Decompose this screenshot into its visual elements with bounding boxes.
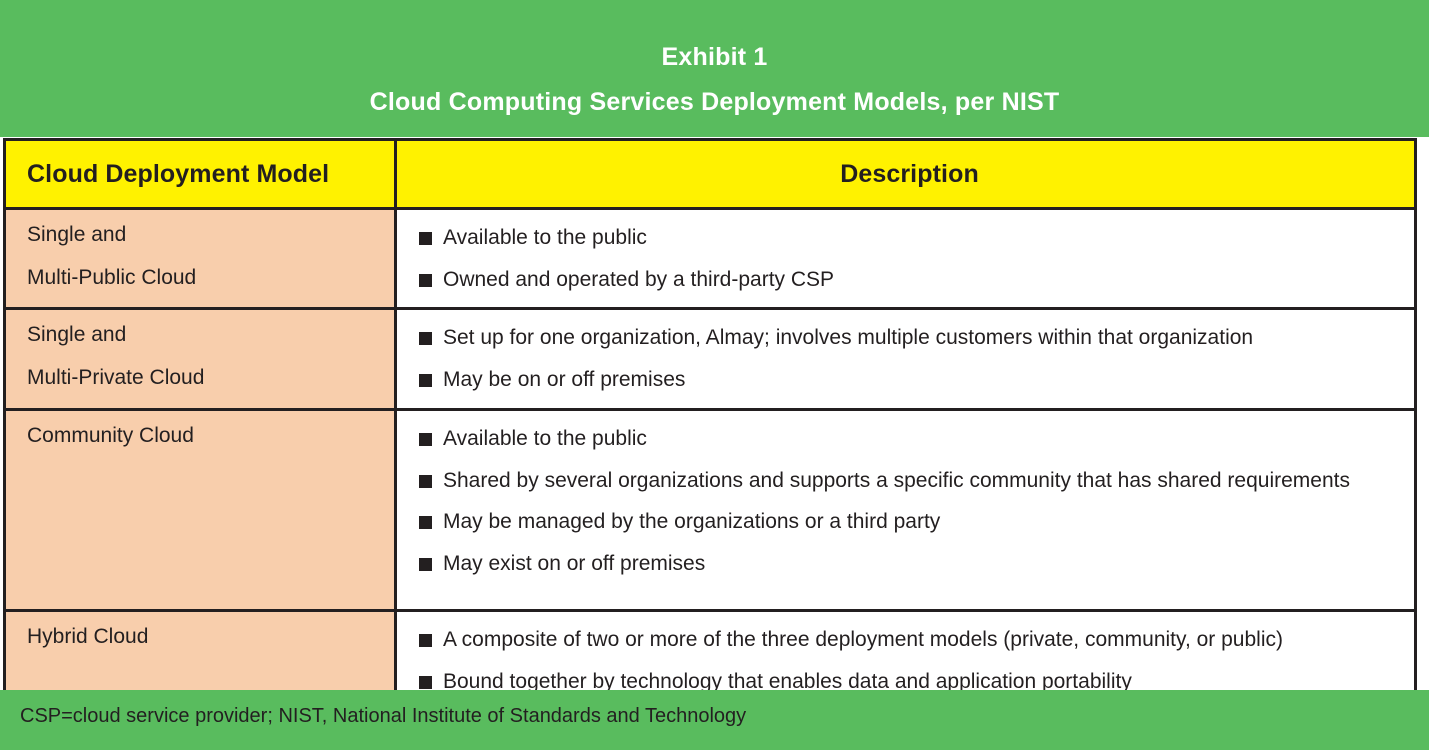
bullet-text: A composite of two or more of the three … — [443, 626, 1400, 654]
description-cell: Available to the public Shared by severa… — [397, 411, 1414, 609]
square-bullet-icon — [419, 374, 432, 387]
model-label-line: Multi-Private Cloud — [27, 367, 394, 388]
bullet-text: Shared by several organizations and supp… — [443, 467, 1400, 495]
bullet-list-item: May be on or off premises — [419, 366, 1400, 394]
exhibit-figure: Exhibit 1 Cloud Computing Services Deplo… — [0, 0, 1429, 750]
bullet-list-item: A composite of two or more of the three … — [419, 626, 1400, 654]
bullet-text: Available to the public — [443, 425, 1400, 453]
exhibit-footnote-banner: CSP=cloud service provider; NIST, Nation… — [0, 690, 1429, 750]
deployment-models-table: Cloud Deployment Model Description Singl… — [3, 138, 1417, 690]
square-bullet-icon — [419, 232, 432, 245]
description-cell: Set up for one organization, Almay; invo… — [397, 310, 1414, 407]
description-cell: Available to the public Owned and operat… — [397, 210, 1414, 307]
bullet-text: May be managed by the organizations or a… — [443, 508, 1400, 536]
model-label-line: Community Cloud — [27, 425, 394, 446]
square-bullet-icon — [419, 475, 432, 488]
bullet-list-item: May exist on or off premises — [419, 550, 1400, 578]
model-label-line: Hybrid Cloud — [27, 626, 394, 647]
table-row: Single and Multi-Public Cloud Available … — [6, 210, 1414, 310]
table-row: Single and Multi-Private Cloud Set up fo… — [6, 310, 1414, 410]
bullet-text: Owned and operated by a third-party CSP — [443, 266, 1400, 294]
footnote-text: CSP=cloud service provider; NIST, Nation… — [20, 704, 746, 728]
model-label-line: Single and — [27, 224, 394, 245]
square-bullet-icon — [419, 332, 432, 345]
bullet-list-item: May be managed by the organizations or a… — [419, 508, 1400, 536]
square-bullet-icon — [419, 634, 432, 647]
model-cell: Single and Multi-Public Cloud — [6, 210, 397, 307]
table-row: Community Cloud Available to the public … — [6, 411, 1414, 612]
bullet-text: May exist on or off premises — [443, 550, 1400, 578]
exhibit-number: Exhibit 1 — [662, 43, 768, 72]
bullet-text: Available to the public — [443, 224, 1400, 252]
column-header-description-label: Description — [840, 160, 979, 189]
bullet-list-item: Available to the public — [419, 224, 1400, 252]
table-header-row: Cloud Deployment Model Description — [6, 141, 1414, 210]
bullet-list-item: Set up for one organization, Almay; invo… — [419, 324, 1400, 352]
square-bullet-icon — [419, 274, 432, 287]
column-header-model-label: Cloud Deployment Model — [27, 160, 329, 189]
model-cell: Community Cloud — [6, 411, 397, 609]
column-header-description: Description — [397, 141, 1414, 207]
model-label-line: Single and — [27, 324, 394, 345]
exhibit-title-banner: Exhibit 1 Cloud Computing Services Deplo… — [0, 0, 1429, 137]
bullet-list-item: Owned and operated by a third-party CSP — [419, 266, 1400, 294]
bullet-text: Set up for one organization, Almay; invo… — [443, 324, 1400, 352]
exhibit-title: Cloud Computing Services Deployment Mode… — [370, 88, 1060, 117]
square-bullet-icon — [419, 558, 432, 571]
model-label-line: Multi-Public Cloud — [27, 267, 394, 288]
square-bullet-icon — [419, 433, 432, 446]
bullet-list-item: Available to the public — [419, 425, 1400, 453]
column-header-model: Cloud Deployment Model — [6, 141, 397, 207]
model-cell: Single and Multi-Private Cloud — [6, 310, 397, 407]
square-bullet-icon — [419, 676, 432, 689]
square-bullet-icon — [419, 516, 432, 529]
bullet-text: May be on or off premises — [443, 366, 1400, 394]
bullet-list-item: Shared by several organizations and supp… — [419, 467, 1400, 495]
